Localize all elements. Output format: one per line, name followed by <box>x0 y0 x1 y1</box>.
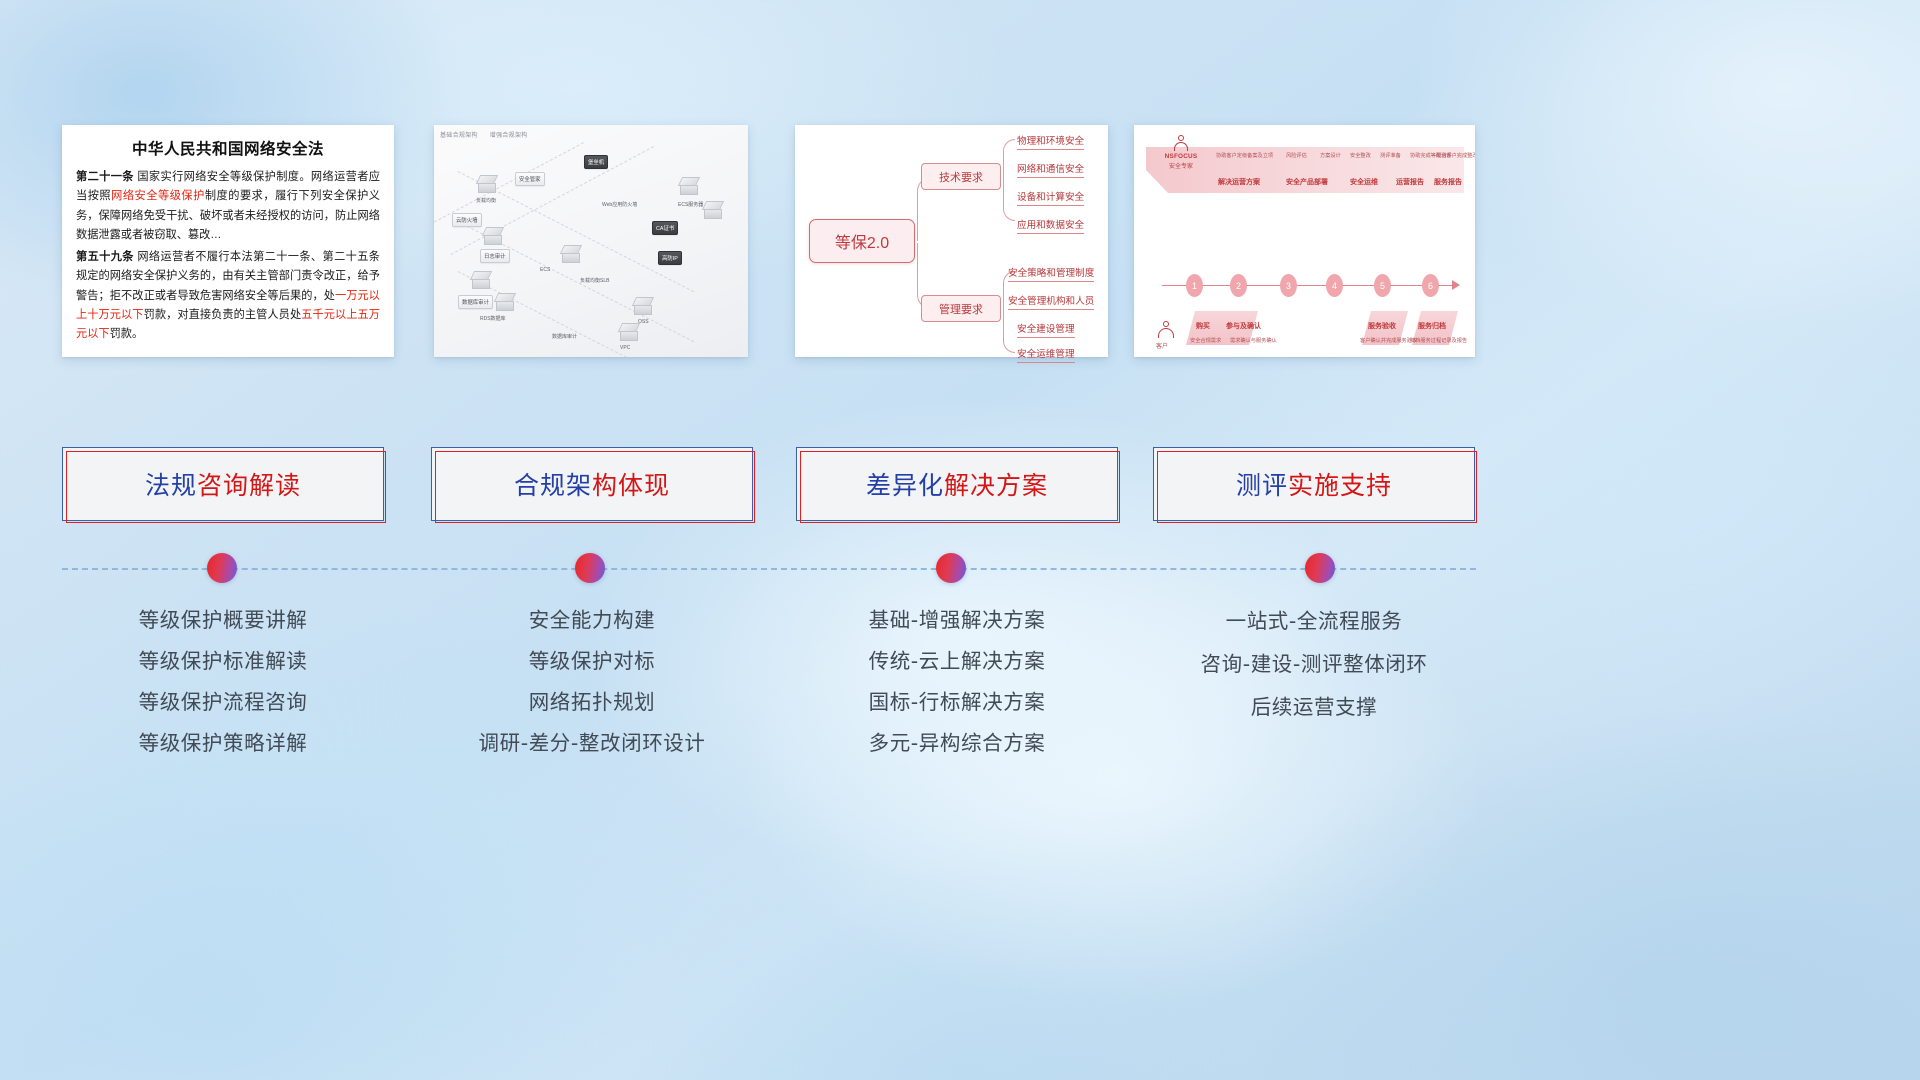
article-21-label: 第二十一条 <box>76 171 134 183</box>
title-red-part: 实施支持 <box>1288 471 1392 500</box>
process-step: 3 <box>1280 274 1297 297</box>
footer-sub: 安全合规需求 <box>1190 337 1221 344</box>
banner-caption: 运营报告 <box>1396 177 1424 187</box>
brand-sub: 安全专家 <box>1154 161 1208 170</box>
banner-caption: 解决运营方案 <box>1218 177 1260 187</box>
detail-list-row: 等级保护概要讲解 等级保护标准解读 等级保护流程咨询 等级保护策略详解 安全能力… <box>0 600 1920 800</box>
architecture-header-right: 增强合规架构 <box>490 133 528 139</box>
process-axis-arrow <box>1452 280 1460 290</box>
article-59-label: 第五十九条 <box>76 251 134 263</box>
mindmap-leaf: 设备和计算安全 <box>1017 189 1084 206</box>
mindmap-leaf: 安全策略和管理制度 <box>1008 265 1094 282</box>
footer-item: 服务归档 <box>1418 321 1446 331</box>
mindmap-branch-management: 管理要求 <box>921 295 1001 322</box>
banner-small-item: 配合客户完成整改及持续运营 <box>1436 152 1475 159</box>
list-item: 等级保护策略详解 <box>62 723 384 764</box>
detail-list-legal-consulting: 等级保护概要讲解 等级保护标准解读 等级保护流程咨询 等级保护策略详解 <box>62 600 384 764</box>
list-item: 安全能力构建 <box>431 600 753 641</box>
mindmap-curve <box>1003 309 1015 353</box>
title-blue-part: 法规 <box>145 471 197 500</box>
architecture-header-left: 基础合规架构 <box>440 133 478 139</box>
mindmap-branch-technical: 技术要求 <box>921 163 1001 190</box>
card-compliance-architecture: 基础合规架构 增强合规架构 堡垒机 安全管家 负载均衡 云防火墙 日志审计 数据… <box>434 125 748 357</box>
banner-small-item: 方案设计 <box>1320 152 1341 159</box>
mindmap-curve <box>1003 177 1015 221</box>
list-item: 基础-增强解决方案 <box>796 600 1118 641</box>
architecture-node: 数据库审计 <box>552 333 577 340</box>
card-service-process: NSFOCUS 安全专家 协助客户定级备案及立项 风险评估 方案设计 安全整改 … <box>1134 125 1475 357</box>
card-dengbao-mindmap: 等保2.0 技术要求 管理要求 物理和环境安全 网络和通信安全 设备和计算安全 … <box>795 125 1108 357</box>
architecture-node: 高防IP <box>658 251 682 265</box>
architecture-node: 数据库审计 <box>458 295 493 309</box>
footer-item: 服务验收 <box>1368 321 1396 331</box>
title-red-part: 咨询解读 <box>197 471 301 500</box>
mindmap: 等保2.0 技术要求 管理要求 物理和环境安全 网络和通信安全 设备和计算安全 … <box>795 125 1108 357</box>
detail-list-compliance-architecture: 安全能力构建 等级保护对标 网络拓扑规划 调研-差分-整改闭环设计 <box>431 600 753 764</box>
title-blue-part: 测评 <box>1236 471 1288 500</box>
title-label: 测评实施支持 <box>1236 466 1392 502</box>
timeline-dot-4[interactable] <box>1305 553 1335 583</box>
expert-icon <box>1174 135 1188 151</box>
list-item: 传统-云上解决方案 <box>796 641 1118 682</box>
list-item: 网络拓扑规划 <box>431 682 753 723</box>
law-document: 中华人民共和国网络安全法 第二十一条 国家实行网络安全等级保护制度。网络运营者应… <box>62 125 394 352</box>
timeline-dot-2[interactable] <box>575 553 605 583</box>
architecture-diagram: 基础合规架构 增强合规架构 堡垒机 安全管家 负载均衡 云防火墙 日志审计 数据… <box>434 125 748 357</box>
screenshot-card-row: 中华人民共和国网络安全法 第二十一条 国家实行网络安全等级保护制度。网络运营者应… <box>0 125 1920 357</box>
title-box-legal-consulting[interactable]: 法规咨询解读 <box>62 447 384 521</box>
timeline <box>0 540 1920 600</box>
article-21-highlight: 网络安全等级保护 <box>111 190 205 202</box>
mindmap-leaf: 应用和数据安全 <box>1017 217 1084 234</box>
architecture-node: 安全管家 <box>515 172 545 186</box>
article-59-text-c: 罚款。 <box>110 328 144 340</box>
footer-sub: 需求确认与服务确认 <box>1230 337 1277 344</box>
title-box-row: 法规咨询解读 合规架构体现 差异化解决方案 测评实施支持 <box>0 447 1920 521</box>
list-item: 调研-差分-整改闭环设计 <box>431 723 753 764</box>
architecture-node: ECS <box>540 267 550 273</box>
architecture-node: RDS数据库 <box>480 315 506 322</box>
banner-caption: 安全运维 <box>1350 177 1378 187</box>
timeline-dashed-line <box>62 568 1476 570</box>
title-box-assessment-support[interactable]: 测评实施支持 <box>1153 447 1475 521</box>
banner-small-item: 风险评估 <box>1286 152 1307 159</box>
architecture-node: VPC <box>620 345 630 351</box>
law-article-59: 第五十九条 网络运营者不履行本法第二十一条、第二十五条规定的网络安全保护义务的，… <box>76 248 380 344</box>
footer-sub: 归档服务过程记录及报告 <box>1410 337 1467 344</box>
mindmap-leaf: 安全管理机构和人员 <box>1008 293 1094 310</box>
architecture-node: 云防火墙 <box>452 213 482 227</box>
banner-small-item: 测评准备 <box>1380 152 1401 159</box>
mindmap-root: 等保2.0 <box>809 219 915 263</box>
process-step: 1 <box>1186 274 1203 297</box>
architecture-node: 负载均衡 <box>476 197 496 204</box>
card-cybersecurity-law: 中华人民共和国网络安全法 第二十一条 国家实行网络安全等级保护制度。网络运营者应… <box>62 125 394 357</box>
law-article-21: 第二十一条 国家实行网络安全等级保护制度。网络运营者应当按照网络安全等级保护制度… <box>76 168 380 245</box>
list-item: 等级保护概要讲解 <box>62 600 384 641</box>
architecture-node: 堡垒机 <box>584 155 608 169</box>
list-item: 等级保护流程咨询 <box>62 682 384 723</box>
banner-small-item: 安全整改 <box>1350 152 1371 159</box>
title-label: 法规咨询解读 <box>145 466 301 502</box>
title-label: 合规架构体现 <box>514 466 670 502</box>
timeline-dot-1[interactable] <box>207 553 237 583</box>
architecture-node: CA证书 <box>652 221 678 235</box>
process-step: 6 <box>1422 274 1439 297</box>
title-label: 差异化解决方案 <box>866 466 1048 502</box>
brand-name: NSFOCUS <box>1154 153 1208 160</box>
timeline-dot-3[interactable] <box>936 553 966 583</box>
list-item: 多元-异构综合方案 <box>796 723 1118 764</box>
title-box-compliance-architecture[interactable]: 合规架构体现 <box>431 447 753 521</box>
process-axis <box>1162 285 1454 286</box>
architecture-node: ECS服务器 <box>678 201 703 208</box>
banner-caption: 安全产品部署 <box>1286 177 1328 187</box>
architecture-header: 基础合规架构 增强合规架构 <box>440 130 538 139</box>
law-title: 中华人民共和国网络安全法 <box>76 137 380 159</box>
title-box-differentiated-solution[interactable]: 差异化解决方案 <box>796 447 1118 521</box>
list-item: 国标-行标解决方案 <box>796 682 1118 723</box>
process-step: 5 <box>1374 274 1391 297</box>
list-item: 等级保护标准解读 <box>62 641 384 682</box>
article-59-text-b: 罚款，对直接负责的主管人员处 <box>144 309 302 321</box>
title-blue-part: 合规架 <box>514 471 592 500</box>
architecture-node: 负载均衡SLB <box>580 277 609 284</box>
list-item: 等级保护对标 <box>431 641 753 682</box>
detail-list-differentiated-solution: 基础-增强解决方案 传统-云上解决方案 国标-行标解决方案 多元-异构综合方案 <box>796 600 1118 764</box>
architecture-node: Web应用防火墙 <box>602 201 637 208</box>
mindmap-leaf: 物理和环境安全 <box>1017 133 1084 150</box>
footer-user-label: 客户 <box>1156 341 1168 350</box>
mindmap-leaf: 安全建设管理 <box>1017 321 1075 338</box>
slide-stage: 中华人民共和国网络安全法 第二十一条 国家实行网络安全等级保护制度。网络运营者应… <box>0 0 1920 1080</box>
banner-caption: 服务报告 <box>1434 177 1462 187</box>
mindmap-curve <box>1003 139 1015 179</box>
customer-icon <box>1158 321 1174 339</box>
list-item: 一站式-全流程服务 <box>1153 600 1475 643</box>
process-diagram: NSFOCUS 安全专家 协助客户定级备案及立项 风险评估 方案设计 安全整改 … <box>1134 125 1475 357</box>
mindmap-leaf: 网络和通信安全 <box>1017 161 1084 178</box>
process-step: 4 <box>1326 274 1343 297</box>
list-item: 后续运营支撑 <box>1153 686 1475 729</box>
title-red-part: 解决方案 <box>944 471 1048 500</box>
banner-small-item: 协助客户定级备案及立项 <box>1216 152 1273 159</box>
footer-sub: 客户确认并完成服务验收 <box>1360 337 1417 344</box>
architecture-node: 日志审计 <box>480 249 510 263</box>
title-red-part: 构体现 <box>592 471 670 500</box>
footer-item: 购买 <box>1196 321 1210 331</box>
list-item: 咨询-建设-测评整体闭环 <box>1153 643 1475 686</box>
footer-item: 参与及确认 <box>1226 321 1261 331</box>
title-blue-part: 差异化 <box>866 471 944 500</box>
mindmap-leaf: 安全运维管理 <box>1017 346 1075 363</box>
process-step: 2 <box>1230 274 1247 297</box>
brand-block: NSFOCUS 安全专家 <box>1154 153 1208 170</box>
detail-list-assessment-support: 一站式-全流程服务 咨询-建设-测评整体闭环 后续运营支撑 <box>1153 600 1475 729</box>
